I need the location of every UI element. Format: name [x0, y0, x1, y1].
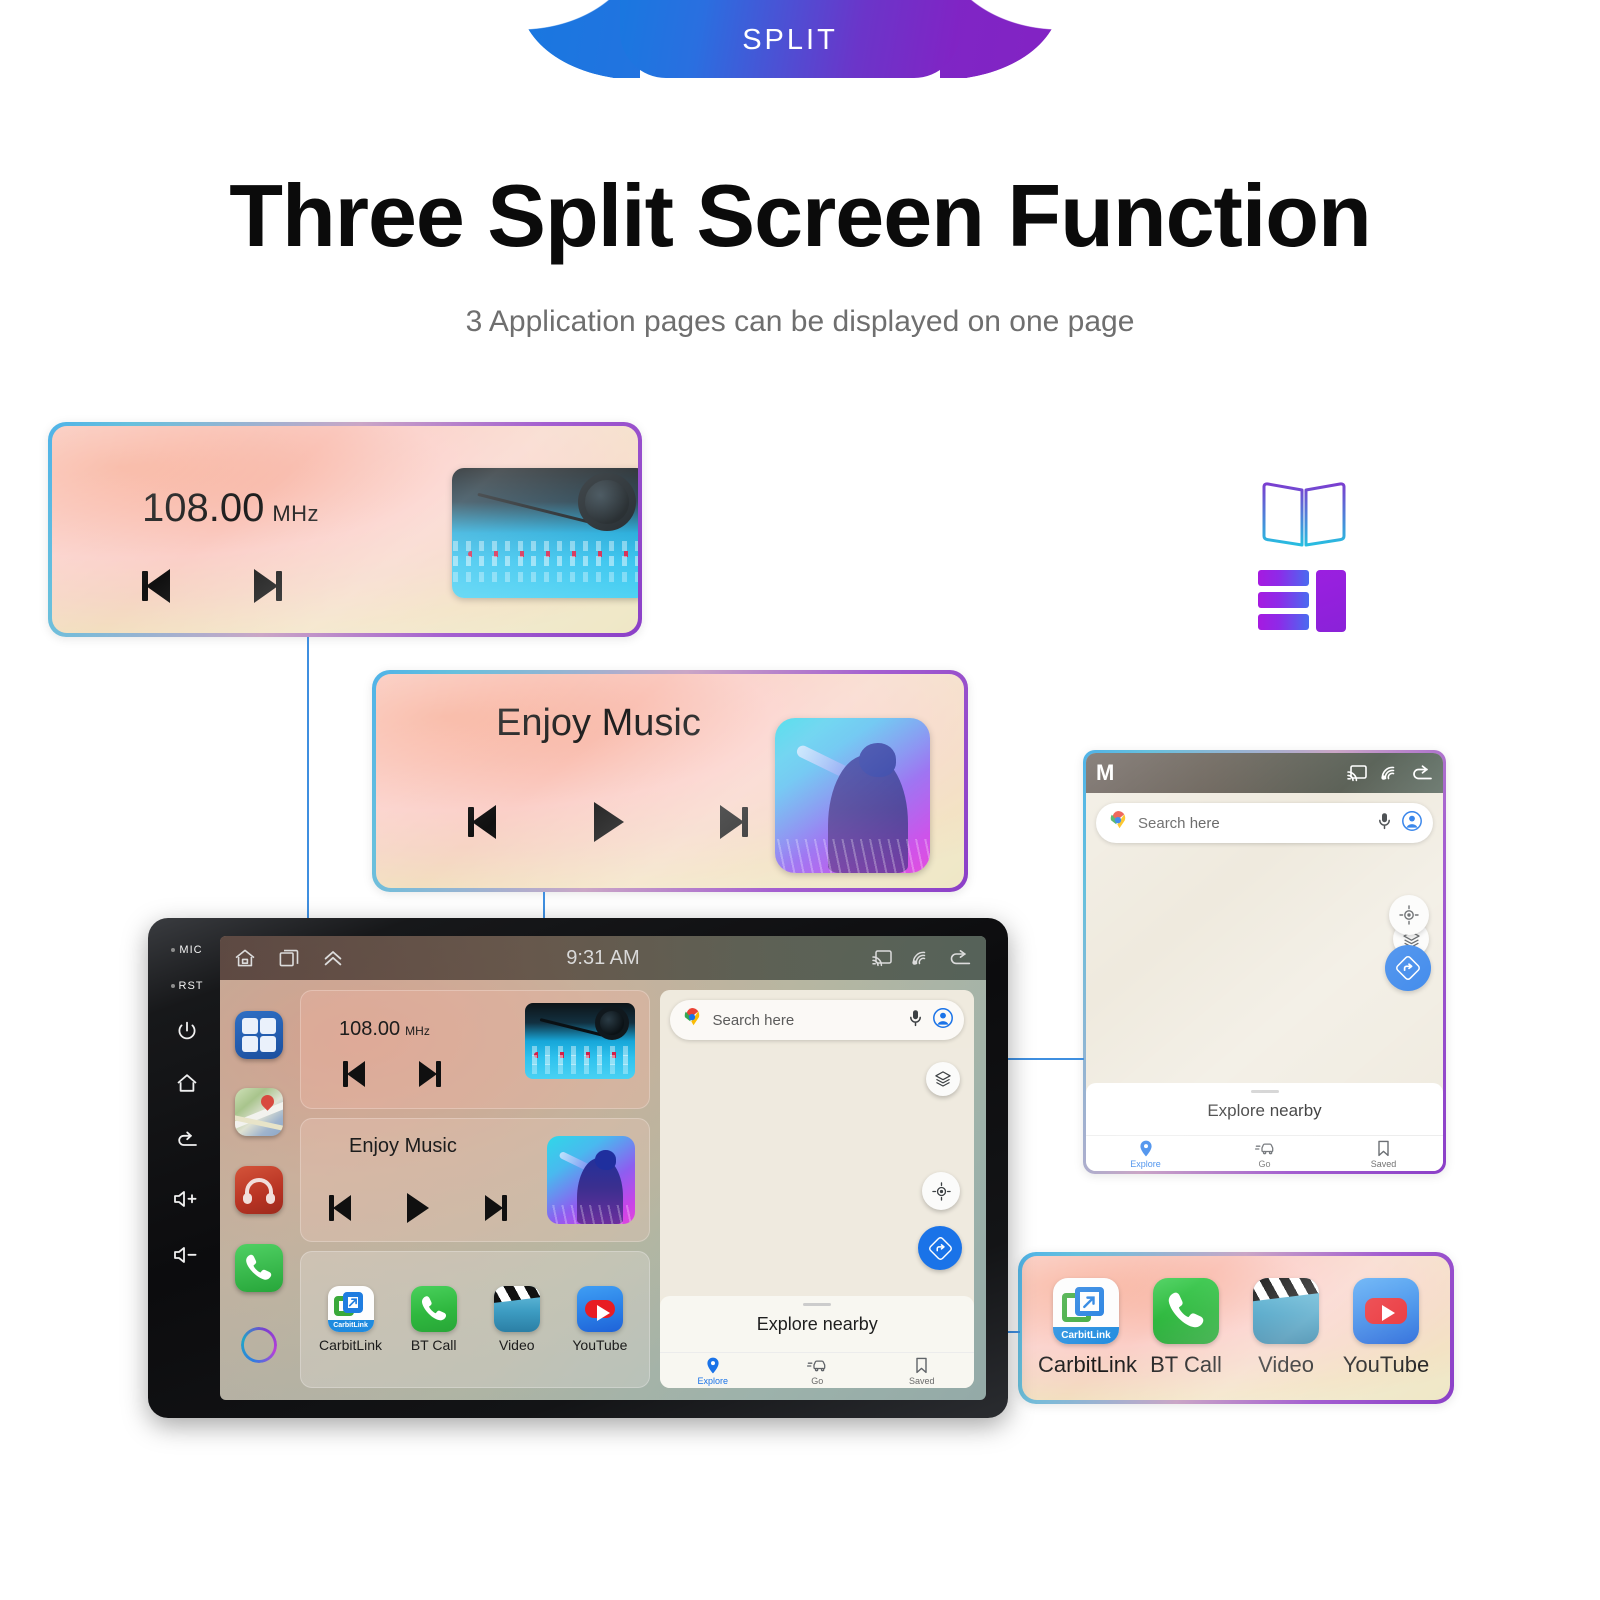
- radio-transport-controls: [140, 566, 284, 606]
- product-feature-page: SPLIT Three Split Screen Function 3 Appl…: [0, 0, 1600, 1600]
- nav-label: Go: [811, 1376, 823, 1386]
- play-icon[interactable]: [401, 1191, 435, 1225]
- next-track-icon[interactable]: [475, 1191, 509, 1225]
- banner-label: SPLIT: [620, 24, 960, 57]
- nav-item-go[interactable]: Go: [765, 1357, 870, 1386]
- recents-icon[interactable]: [278, 948, 300, 968]
- prev-track-icon[interactable]: [341, 1057, 375, 1091]
- expand-up-icon[interactable]: [322, 948, 344, 968]
- radio-frequency: 108.00MHz: [142, 486, 319, 531]
- maps-bottom-nav: Explore Go: [1086, 1135, 1443, 1169]
- app-tile-bt-call[interactable]: BT Call: [399, 1286, 469, 1353]
- android-status-bar: 9:31 AM: [220, 936, 986, 980]
- app-label: YouTube: [565, 1337, 635, 1353]
- maps-bottom-nav: Explore: [660, 1352, 974, 1386]
- app-tile-youtube[interactable]: YouTube: [565, 1286, 635, 1353]
- play-icon[interactable]: [588, 802, 628, 842]
- maps-callout-card: M: [1083, 750, 1446, 1174]
- dock-item-assistant[interactable]: [235, 1321, 283, 1369]
- next-track-icon[interactable]: [710, 802, 750, 842]
- music-artwork: [547, 1136, 635, 1224]
- maps-window-letter: M: [1096, 760, 1114, 786]
- maps-search-placeholder: Search here: [1138, 815, 1368, 832]
- map-canvas[interactable]: [1086, 853, 1443, 1083]
- app-tile-video[interactable]: Video: [1238, 1278, 1334, 1378]
- my-location-icon[interactable]: [922, 1172, 960, 1210]
- nav-item-explore[interactable]: Explore: [660, 1357, 765, 1386]
- prev-track-icon[interactable]: [327, 1191, 361, 1225]
- mic-label: MIC: [156, 940, 218, 958]
- google-maps-pin-icon: [682, 1007, 702, 1034]
- home-screen: 108.00MHz: [220, 980, 986, 1400]
- home-icon[interactable]: [234, 948, 256, 968]
- maps-window-statusbar: M: [1086, 753, 1443, 793]
- sound-icon[interactable]: [910, 949, 930, 967]
- car-head-unit-device: MIC RST: [148, 918, 1008, 1418]
- my-location-icon[interactable]: [1389, 895, 1429, 935]
- music-callout-card: Enjoy Music: [372, 670, 968, 892]
- carbitlink-badge: CarbitLink: [1053, 1327, 1119, 1344]
- volume-down-button[interactable]: [156, 1244, 218, 1266]
- nav-label: Explore: [697, 1376, 728, 1386]
- bookmark-icon: [870, 1357, 975, 1374]
- page-title: Three Split Screen Function: [0, 165, 1600, 267]
- nav-item-go[interactable]: Go: [1205, 1140, 1324, 1169]
- cast-icon[interactable]: [1347, 764, 1367, 782]
- prev-track-icon[interactable]: [466, 802, 506, 842]
- video-clapperboard-icon: [1253, 1278, 1319, 1344]
- music-title: Enjoy Music: [349, 1135, 457, 1158]
- app-label: BT Call: [399, 1337, 469, 1353]
- back-icon[interactable]: [1411, 764, 1433, 782]
- nav-label: Explore: [1130, 1159, 1161, 1169]
- radio-frequency-unit: MHz: [272, 501, 319, 526]
- back-icon[interactable]: [948, 949, 972, 967]
- dock-item-music[interactable]: [235, 1166, 283, 1214]
- sound-icon[interactable]: [1379, 764, 1399, 782]
- nav-label: Saved: [909, 1376, 935, 1386]
- explore-nearby-sheet[interactable]: Explore nearby Explore: [1086, 1083, 1443, 1171]
- prev-track-icon[interactable]: [140, 566, 180, 606]
- radio-frequency: 108.00MHz: [339, 1018, 430, 1041]
- app-dock: [228, 990, 290, 1388]
- music-transport-controls: [327, 1191, 509, 1225]
- top-banner: SPLIT: [0, 0, 1600, 90]
- split-screen-area: 108.00MHz: [300, 990, 974, 1388]
- device-screen: 9:31 AM: [220, 936, 986, 1400]
- youtube-icon: [577, 1286, 623, 1332]
- microphone-icon[interactable]: [909, 1009, 922, 1032]
- app-label: BT Call: [1138, 1352, 1234, 1378]
- app-tile-youtube[interactable]: YouTube: [1338, 1278, 1434, 1378]
- nav-label: Saved: [1371, 1159, 1397, 1169]
- page-subtitle: 3 Application pages can be displayed on …: [0, 305, 1600, 339]
- app-label: CarbitLink: [1038, 1352, 1134, 1378]
- sheet-grabber[interactable]: [1251, 1090, 1279, 1093]
- split-left-column: 108.00MHz: [300, 990, 650, 1388]
- sheet-grabber[interactable]: [803, 1303, 831, 1306]
- back-button[interactable]: [156, 1128, 218, 1150]
- dock-item-phone[interactable]: [235, 1244, 283, 1292]
- map-layers-icon[interactable]: [926, 1062, 960, 1096]
- phone-icon: [411, 1286, 457, 1332]
- music-widget-panel[interactable]: Enjoy Music: [300, 1118, 650, 1241]
- dock-item-all-apps[interactable]: [235, 1011, 283, 1059]
- google-maps-pin-icon: [1108, 810, 1128, 837]
- maps-search-bar[interactable]: Search here: [670, 1000, 964, 1040]
- dock-item-maps[interactable]: [235, 1088, 283, 1136]
- reset-label: RST: [156, 976, 218, 994]
- split-layout-icon: [1258, 570, 1346, 632]
- radio-frequency-value: 108.00: [339, 1018, 400, 1040]
- radio-frequency-unit: MHz: [405, 1024, 430, 1038]
- app-label: YouTube: [1338, 1352, 1434, 1378]
- hardware-button-rail: MIC RST: [156, 932, 218, 1404]
- location-pin-icon: [660, 1357, 765, 1374]
- apps-widget-panel[interactable]: CarbitLink CarbitLink BT Call: [300, 1251, 650, 1388]
- bookmark-icon: [1324, 1140, 1443, 1157]
- radio-artwork: [452, 468, 638, 598]
- next-track-icon[interactable]: [244, 566, 284, 606]
- apps-callout-card: CarbitLink CarbitLink BT Call Video: [1018, 1252, 1454, 1404]
- cast-icon[interactable]: [872, 949, 892, 967]
- account-avatar-icon[interactable]: [932, 1007, 954, 1034]
- music-title: Enjoy Music: [496, 702, 701, 745]
- app-label: Video: [482, 1337, 552, 1353]
- nav-item-explore[interactable]: Explore: [1086, 1140, 1205, 1169]
- radio-transport-controls: [341, 1057, 443, 1091]
- sheet-title: Explore nearby: [660, 1314, 974, 1335]
- app-label: CarbitLink: [316, 1337, 386, 1353]
- car-go-icon: [765, 1357, 870, 1374]
- music-artwork: [775, 718, 930, 873]
- volume-up-button[interactable]: [156, 1188, 218, 1210]
- sheet-title: Explore nearby: [1086, 1101, 1443, 1121]
- app-label: Video: [1238, 1352, 1334, 1378]
- nav-label: Go: [1258, 1159, 1270, 1169]
- video-clapperboard-icon: [494, 1286, 540, 1332]
- dual-screen-book-icon: [1258, 478, 1350, 550]
- microphone-icon[interactable]: [1378, 812, 1391, 835]
- app-tile-carbitlink[interactable]: CarbitLink CarbitLink: [316, 1286, 386, 1353]
- home-button[interactable]: [156, 1072, 218, 1094]
- nav-item-saved[interactable]: Saved: [870, 1357, 975, 1386]
- maps-search-bar[interactable]: Search here: [1096, 803, 1433, 843]
- radio-frequency-value: 108.00: [142, 486, 264, 530]
- carbitlink-badge: CarbitLink: [328, 1320, 374, 1332]
- carbitlink-icon: CarbitLink: [1053, 1278, 1119, 1344]
- app-tile-video[interactable]: Video: [482, 1286, 552, 1353]
- radio-callout-card: 108.00MHz: [48, 422, 642, 637]
- radio-artwork: [525, 1003, 635, 1079]
- directions-icon[interactable]: [918, 1226, 962, 1270]
- map-canvas[interactable]: [660, 1048, 974, 1296]
- app-tile-bt-call[interactable]: BT Call: [1138, 1278, 1234, 1378]
- account-avatar-icon[interactable]: [1401, 810, 1423, 837]
- power-button[interactable]: [156, 1020, 218, 1042]
- location-pin-icon: [1086, 1140, 1205, 1157]
- maps-search-placeholder: Search here: [712, 1012, 899, 1029]
- nav-item-saved[interactable]: Saved: [1324, 1140, 1443, 1169]
- next-track-icon[interactable]: [409, 1057, 443, 1091]
- car-go-icon: [1205, 1140, 1324, 1157]
- explore-nearby-sheet[interactable]: Explore nearby Explore: [660, 1296, 974, 1388]
- maps-widget-panel[interactable]: Search here: [660, 990, 974, 1388]
- carbitlink-icon: CarbitLink: [328, 1286, 374, 1332]
- directions-icon[interactable]: [1385, 945, 1431, 991]
- app-tile-carbitlink[interactable]: CarbitLink CarbitLink: [1038, 1278, 1134, 1378]
- phone-icon: [1153, 1278, 1219, 1344]
- youtube-icon: [1353, 1278, 1419, 1344]
- music-transport-controls: [466, 802, 750, 842]
- radio-widget-panel[interactable]: 108.00MHz: [300, 990, 650, 1109]
